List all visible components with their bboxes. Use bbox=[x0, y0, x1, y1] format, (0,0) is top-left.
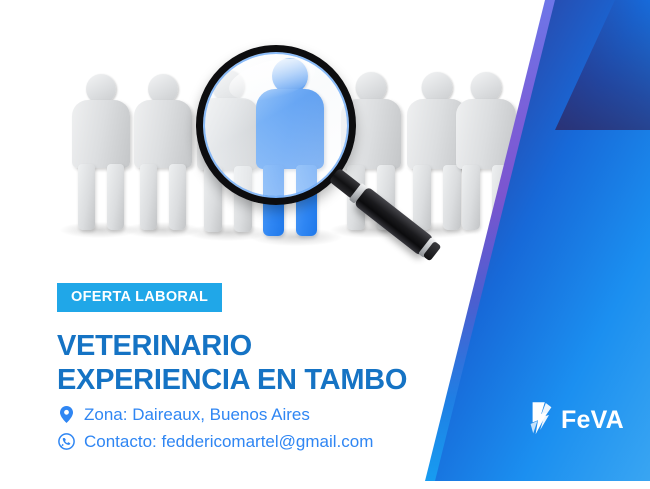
map-pin-icon bbox=[58, 406, 75, 423]
person-leg-left bbox=[140, 164, 157, 230]
person-leg-left bbox=[78, 164, 95, 230]
info-text-contact: Contacto: feddericomartel@gmail.com bbox=[84, 433, 373, 450]
status-badge: OFERTA LABORAL bbox=[57, 283, 222, 312]
magnifying-glass-icon bbox=[196, 45, 356, 205]
feva-wing-icon bbox=[529, 400, 555, 441]
person-figure bbox=[69, 74, 133, 230]
person-leg-right bbox=[107, 164, 124, 230]
feva-logo-text: FeVA bbox=[561, 408, 624, 433]
page-title: VETERINARIO EXPERIENCIA EN TAMBO bbox=[57, 330, 407, 397]
job-offer-poster: OFERTA LABORAL VETERINARIO EXPERIENCIA E… bbox=[0, 0, 650, 489]
person-leg-right bbox=[169, 164, 186, 230]
info-row-location: Zona: Daireaux, Buenos Aires bbox=[58, 401, 373, 428]
person-figure bbox=[131, 74, 195, 230]
feva-logo: FeVA bbox=[529, 400, 624, 441]
person-leg-left bbox=[462, 165, 480, 230]
panel-bottom-trim bbox=[400, 481, 650, 489]
headline-line-1: VETERINARIO bbox=[57, 330, 407, 364]
person-figure bbox=[453, 72, 519, 230]
info-row-contact: Contacto: feddericomartel@gmail.com bbox=[58, 428, 373, 455]
info-list: Zona: Daireaux, Buenos Aires Contacto: f… bbox=[58, 401, 373, 455]
person-body bbox=[72, 100, 130, 168]
hero-image bbox=[0, 0, 650, 272]
whatsapp-icon bbox=[58, 433, 75, 450]
info-text-location: Zona: Daireaux, Buenos Aires bbox=[84, 406, 310, 423]
person-body bbox=[134, 100, 192, 168]
person-leg-left bbox=[413, 165, 431, 230]
person-body bbox=[456, 99, 516, 169]
person-leg-right bbox=[492, 165, 510, 230]
headline-line-2: EXPERIENCIA EN TAMBO bbox=[57, 364, 407, 398]
